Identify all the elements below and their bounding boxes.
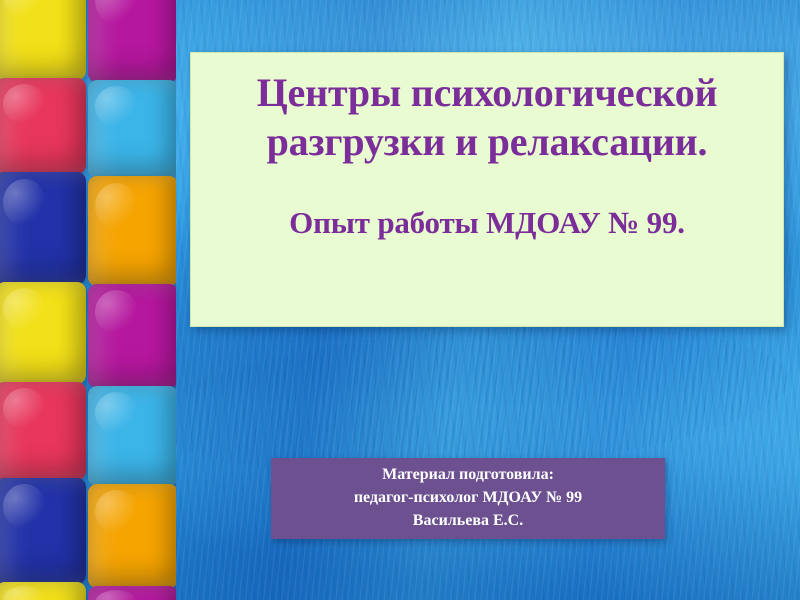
yellow-block [0, 0, 86, 80]
page-subtitle: Опыт работы МДОАУ № 99. [209, 205, 765, 241]
title-panel: Центры психологической разгрузки и релак… [190, 52, 784, 327]
page-title: Центры психологической разгрузки и релак… [209, 69, 765, 167]
title-line-2: разгрузки и релаксации. [209, 118, 765, 167]
plasticine-blocks-strip [0, 0, 176, 600]
author-line-3: Васильева Е.С. [413, 510, 523, 533]
orange-block [88, 176, 176, 286]
blue-block [0, 478, 86, 584]
magenta-block [88, 284, 176, 388]
yellow-block [0, 582, 86, 600]
author-line-2: педагог-психолог МДОАУ № 99 [354, 487, 582, 510]
title-line-1: Центры психологической [209, 69, 765, 118]
orange-block [88, 484, 176, 588]
magenta-block [88, 0, 176, 82]
cyan-block [88, 80, 176, 178]
pink-block [0, 78, 86, 174]
blocks-column-left [0, 0, 86, 600]
blocks-column-right [88, 0, 176, 600]
presentation-slide: Центры психологической разгрузки и релак… [0, 0, 800, 600]
blue-block [0, 172, 86, 284]
magenta-block [88, 586, 176, 600]
yellow-block [0, 282, 86, 384]
cyan-block [88, 386, 176, 486]
author-credit-box: Материал подготовила: педагог-психолог М… [271, 458, 665, 539]
author-line-1: Материал подготовила: [382, 464, 554, 487]
pink-block [0, 382, 86, 480]
